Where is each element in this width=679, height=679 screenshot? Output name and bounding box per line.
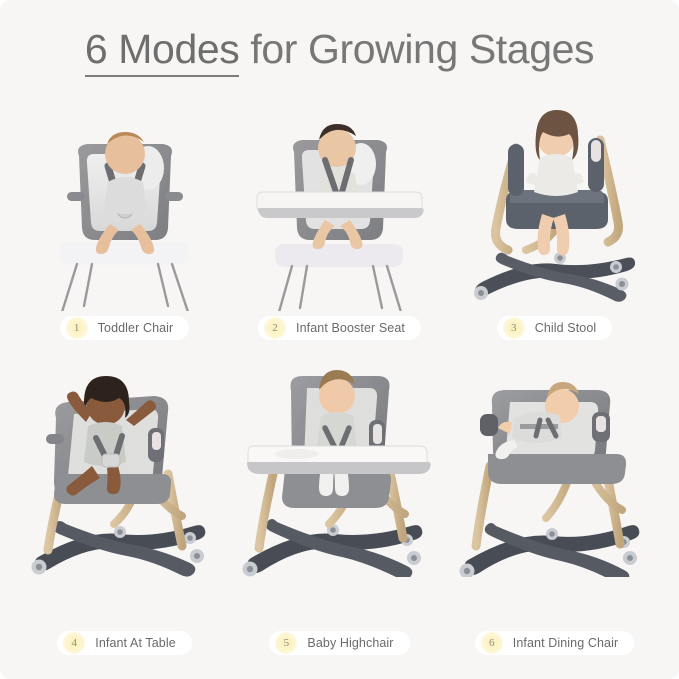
mode-label-text: Infant Dining Chair	[513, 636, 618, 650]
mode-label-1[interactable]: 1 Toddler Chair	[17, 316, 232, 342]
mode-cell-4[interactable]	[22, 362, 227, 612]
labels-row-top: 1 Toddler Chair 2 Infant Booster Seat 3 …	[0, 316, 679, 342]
mode-label-5[interactable]: 5 Baby Highchair	[232, 631, 447, 657]
toddler-chair-photo	[22, 96, 227, 311]
mode-cell-3[interactable]	[452, 96, 657, 346]
mode-label-text: Infant At Table	[95, 636, 176, 650]
label-pill[interactable]: 2 Infant Booster Seat	[258, 316, 421, 340]
mode-cell-1[interactable]	[22, 96, 227, 346]
mode-number-badge: 5	[275, 632, 297, 654]
label-pill[interactable]: 1 Toddler Chair	[60, 316, 190, 340]
mode-number-badge: 1	[66, 317, 88, 339]
infographic-page: 6 Modes for Growing Stages	[0, 0, 679, 679]
label-pill[interactable]: 6 Infant Dining Chair	[475, 631, 634, 655]
infant-booster-seat-photo	[237, 96, 442, 311]
child-stool-photo	[452, 96, 657, 311]
label-pill[interactable]: 3 Child Stool	[497, 316, 613, 340]
mode-cell-2[interactable]	[237, 96, 442, 346]
label-pill[interactable]: 5 Baby Highchair	[269, 631, 409, 655]
mode-label-text: Baby Highchair	[307, 636, 393, 650]
modes-row-top	[0, 96, 679, 346]
mode-cell-6[interactable]	[452, 362, 657, 612]
mode-label-text: Toddler Chair	[98, 321, 174, 335]
mode-number-badge: 2	[264, 317, 286, 339]
page-title-wrapper: 6 Modes for Growing Stages	[0, 26, 679, 73]
mode-number-badge: 3	[503, 317, 525, 339]
mode-label-6[interactable]: 6 Infant Dining Chair	[447, 631, 662, 657]
mode-number-badge: 6	[481, 632, 503, 654]
page-title-rest: for Growing Stages	[239, 26, 594, 72]
mode-cell-5[interactable]	[237, 362, 442, 612]
page-title-highlight: 6 Modes	[85, 26, 239, 77]
baby-highchair-photo	[237, 362, 442, 577]
infant-at-table-photo	[22, 362, 227, 577]
labels-row-bottom: 4 Infant At Table 5 Baby Highchair 6 Inf…	[0, 631, 679, 657]
mode-label-text: Child Stool	[535, 321, 597, 335]
modes-row-bottom	[0, 362, 679, 612]
mode-label-4[interactable]: 4 Infant At Table	[17, 631, 232, 657]
label-pill[interactable]: 4 Infant At Table	[57, 631, 192, 655]
mode-label-3[interactable]: 3 Child Stool	[447, 316, 662, 342]
page-title: 6 Modes for Growing Stages	[85, 26, 594, 73]
mode-number-badge: 4	[63, 632, 85, 654]
infant-dining-chair-photo	[452, 362, 657, 577]
mode-label-text: Infant Booster Seat	[296, 321, 405, 335]
mode-label-2[interactable]: 2 Infant Booster Seat	[232, 316, 447, 342]
